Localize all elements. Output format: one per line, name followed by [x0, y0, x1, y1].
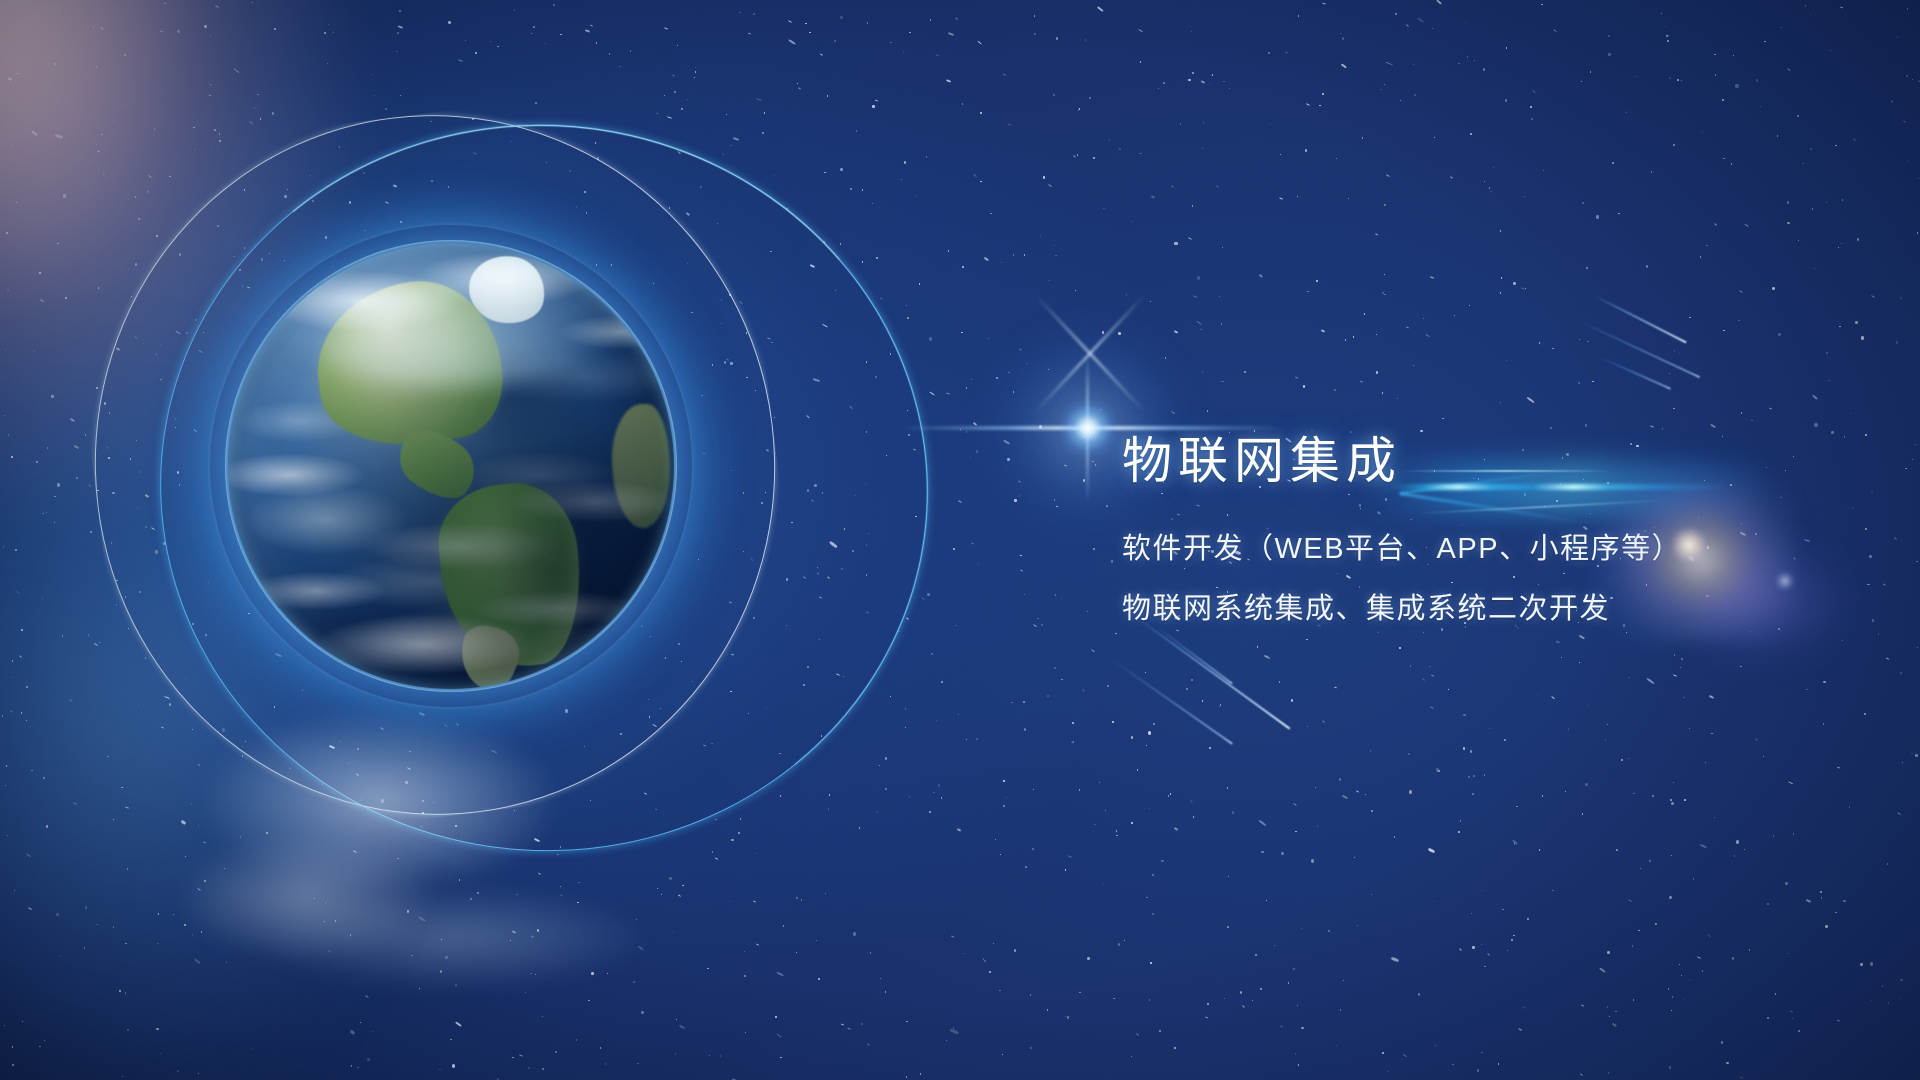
star [99, 642, 100, 644]
star [1228, 876, 1229, 878]
star [154, 128, 155, 130]
star [1871, 492, 1872, 493]
star [73, 445, 78, 449]
star [531, 973, 532, 974]
star [903, 52, 904, 54]
star [1787, 68, 1791, 71]
star [1340, 1009, 1341, 1011]
star [251, 1048, 252, 1050]
star [1484, 774, 1485, 776]
star [1306, 639, 1307, 640]
star [1797, 115, 1799, 117]
star [1207, 1003, 1209, 1005]
star [1209, 84, 1210, 86]
star [600, 1047, 601, 1048]
star [1093, 431, 1095, 434]
star [1542, 795, 1543, 796]
star [1150, 301, 1151, 303]
star [1322, 2, 1326, 4]
star [1174, 242, 1177, 245]
star [1633, 999, 1634, 1001]
star [1092, 461, 1093, 462]
star [397, 858, 398, 859]
star [1077, 154, 1078, 156]
star [156, 354, 157, 356]
star [753, 13, 755, 15]
star [1305, 149, 1307, 152]
star [1019, 495, 1020, 497]
star [1855, 321, 1858, 324]
star [135, 263, 137, 266]
star [1674, 350, 1675, 352]
star [1131, 822, 1132, 824]
star [904, 161, 906, 164]
star [1342, 37, 1344, 40]
star [44, 1040, 45, 1042]
star [112, 492, 115, 495]
star [1281, 852, 1284, 855]
star [197, 888, 201, 892]
star [1408, 753, 1410, 755]
star [1423, 632, 1424, 633]
star [1539, 849, 1540, 850]
star [1384, 204, 1386, 207]
star [4, 1025, 5, 1026]
star [823, 240, 826, 242]
star [953, 1027, 954, 1029]
star [1788, 953, 1789, 954]
star [169, 703, 171, 706]
star [219, 133, 220, 135]
star [819, 639, 820, 640]
star [1791, 783, 1792, 785]
star [145, 657, 146, 659]
star [1541, 4, 1542, 6]
star [936, 55, 939, 57]
meteor-trail [1155, 625, 1233, 684]
star [1341, 64, 1347, 69]
star [1666, 35, 1669, 37]
star [1093, 157, 1095, 160]
star [984, 257, 989, 261]
star [1755, 739, 1758, 741]
star [93, 26, 94, 28]
star [1079, 108, 1080, 109]
star [397, 32, 398, 34]
star [1514, 843, 1515, 845]
star [1764, 41, 1765, 43]
star [1146, 897, 1147, 899]
star [739, 301, 743, 304]
star [1679, 964, 1680, 966]
star [90, 531, 92, 534]
star [584, 746, 585, 748]
star [470, 898, 472, 900]
star [1118, 943, 1120, 945]
star [953, 548, 955, 550]
star [638, 946, 643, 951]
star [609, 53, 610, 55]
star [1579, 634, 1585, 638]
star [69, 699, 73, 702]
star [1767, 903, 1768, 905]
star [1878, 633, 1879, 635]
star [766, 707, 767, 708]
star [1165, 357, 1166, 358]
star [54, 496, 55, 497]
star [775, 1016, 776, 1018]
star [108, 457, 109, 459]
star [139, 591, 141, 593]
star [204, 880, 205, 881]
star [1886, 658, 1889, 660]
star [160, 1053, 161, 1054]
star [111, 542, 112, 544]
star [995, 839, 996, 841]
star [886, 455, 887, 456]
star [1871, 295, 1875, 298]
star [1124, 940, 1125, 942]
star [1477, 1069, 1479, 1072]
star [852, 550, 853, 552]
star [648, 699, 649, 700]
star [1900, 979, 1902, 982]
star [1116, 835, 1117, 836]
star [1781, 27, 1782, 28]
star [761, 502, 762, 504]
star [136, 440, 137, 441]
star [1055, 594, 1056, 596]
star [1460, 820, 1461, 822]
star [1625, 112, 1628, 114]
star [103, 173, 105, 176]
star [1242, 1005, 1245, 1008]
star [880, 978, 881, 980]
star [1711, 733, 1712, 734]
star [96, 66, 97, 68]
star [1406, 24, 1409, 27]
star [1472, 946, 1475, 949]
star [726, 359, 729, 361]
star [328, 745, 334, 749]
star [1798, 240, 1799, 241]
star [731, 470, 732, 471]
star [1232, 811, 1234, 813]
star [1714, 223, 1717, 226]
star [266, 832, 268, 834]
star [1430, 706, 1434, 708]
star [1681, 658, 1683, 660]
star [669, 877, 672, 880]
star [1269, 123, 1270, 124]
star [1152, 913, 1154, 915]
star [776, 971, 784, 977]
star [350, 1029, 356, 1035]
star [1298, 15, 1299, 17]
star [674, 91, 676, 93]
star [553, 4, 555, 6]
star [542, 1068, 544, 1070]
star [1515, 626, 1518, 629]
star [1422, 678, 1425, 681]
star [136, 507, 138, 509]
star [1914, 210, 1915, 211]
star [12, 677, 13, 678]
star [679, 1025, 685, 1030]
star [1126, 294, 1127, 296]
star [1311, 859, 1314, 863]
star [441, 939, 442, 940]
star [1669, 896, 1672, 900]
star [644, 793, 647, 795]
star [586, 212, 587, 213]
star [1436, 768, 1439, 772]
star [1587, 341, 1588, 342]
star [1897, 812, 1901, 815]
star [797, 83, 798, 84]
star [919, 283, 920, 285]
star [933, 792, 934, 794]
star [1187, 237, 1191, 240]
star [984, 960, 985, 962]
star [1384, 274, 1385, 275]
star [724, 361, 726, 363]
star [731, 653, 734, 655]
star [971, 543, 974, 545]
star [712, 364, 713, 366]
star [511, 141, 512, 142]
star [1450, 177, 1453, 180]
star [1916, 561, 1917, 562]
star [1075, 290, 1076, 291]
star [1677, 79, 1679, 81]
star [814, 484, 817, 487]
star [1917, 647, 1918, 648]
star [1423, 318, 1424, 320]
star [1585, 783, 1588, 786]
star [1381, 89, 1382, 90]
star [409, 751, 410, 753]
star [872, 105, 874, 108]
star [1145, 672, 1146, 673]
star [1319, 105, 1320, 106]
star [1116, 830, 1117, 831]
star [1037, 618, 1038, 619]
star [361, 799, 362, 801]
star [363, 172, 364, 174]
star [850, 406, 854, 410]
star [1579, 339, 1580, 341]
star [853, 932, 856, 936]
star [47, 447, 48, 449]
star [133, 336, 137, 339]
star [916, 195, 917, 197]
star [1887, 863, 1888, 865]
star [1193, 816, 1194, 818]
star [1382, 392, 1383, 394]
star [372, 1031, 373, 1033]
star [1669, 77, 1671, 80]
star [160, 379, 161, 380]
star [1018, 480, 1021, 482]
star [1085, 39, 1086, 40]
star [1321, 329, 1326, 332]
star [788, 20, 792, 23]
star [1395, 13, 1396, 14]
star [1043, 176, 1045, 179]
star [445, 956, 448, 959]
star [1188, 79, 1191, 82]
star [1006, 797, 1007, 798]
star [641, 1011, 644, 1014]
star [1749, 949, 1750, 951]
star [198, 825, 199, 826]
star [1003, 74, 1006, 76]
star [744, 951, 745, 952]
star [1371, 894, 1372, 895]
star [588, 1000, 589, 1001]
star [1744, 849, 1745, 851]
star [1579, 662, 1580, 663]
star [1500, 230, 1501, 232]
star [389, 117, 390, 119]
star [743, 492, 744, 494]
star [1561, 657, 1562, 658]
star [818, 978, 819, 979]
star [1655, 924, 1656, 926]
star [1608, 53, 1610, 56]
star [1527, 918, 1528, 920]
star [449, 1039, 452, 1041]
star [1316, 280, 1317, 282]
star [1240, 991, 1242, 994]
star [245, 741, 246, 742]
star [1229, 88, 1230, 89]
star [589, 25, 592, 27]
star [1024, 594, 1025, 596]
star [433, 802, 434, 803]
star [1002, 1054, 1003, 1055]
star [637, 1063, 638, 1065]
star [817, 572, 819, 575]
star [712, 851, 713, 853]
star [1700, 844, 1707, 848]
star [1842, 199, 1843, 200]
star [1387, 1071, 1389, 1073]
star [1700, 256, 1701, 258]
star [385, 201, 389, 203]
star [554, 240, 555, 242]
star [1740, 666, 1743, 668]
star [996, 377, 998, 379]
star [1860, 963, 1863, 967]
star [1582, 813, 1583, 815]
globe-sphere [228, 243, 674, 689]
star [841, 568, 843, 571]
star [596, 42, 597, 44]
star [1053, 94, 1055, 97]
star [510, 940, 511, 941]
star [284, 195, 287, 198]
star [866, 544, 867, 546]
star [1551, 696, 1555, 699]
star [419, 712, 425, 716]
star [1760, 106, 1761, 108]
star [1734, 855, 1735, 857]
star [1079, 789, 1080, 791]
star [177, 30, 180, 33]
star [1669, 1066, 1671, 1069]
star [1896, 341, 1898, 344]
star [1131, 736, 1133, 739]
star [970, 457, 971, 459]
star [963, 953, 964, 955]
star [750, 558, 754, 561]
star [407, 910, 409, 913]
star [21, 712, 22, 714]
star [745, 1032, 746, 1033]
star [1812, 208, 1813, 210]
star [1186, 688, 1187, 690]
star [16, 591, 20, 594]
star [885, 991, 886, 993]
star [98, 287, 99, 289]
star [717, 223, 718, 224]
star [988, 338, 989, 340]
star [203, 332, 204, 333]
star [727, 654, 728, 655]
star [840, 243, 841, 244]
star [1048, 369, 1049, 370]
star [1174, 330, 1179, 334]
star [946, 79, 952, 83]
star [821, 735, 822, 737]
star [325, 236, 327, 239]
star [1268, 52, 1270, 55]
star [1375, 233, 1378, 236]
star [234, 68, 240, 73]
banner-text-block: 物联网集成 软件开发（WEB平台、APP、小程序等） 物联网系统集成、集成系统二… [1122, 436, 1842, 624]
star [310, 175, 311, 177]
star [1295, 1053, 1296, 1054]
star [810, 264, 815, 267]
star [1176, 630, 1179, 632]
star [113, 926, 114, 928]
star [1257, 646, 1258, 648]
star [1322, 720, 1325, 723]
star [1322, 93, 1324, 96]
star [885, 788, 887, 790]
star [439, 1069, 440, 1070]
star [1500, 402, 1501, 404]
star [1671, 802, 1674, 805]
star [805, 23, 806, 25]
star [786, 578, 788, 581]
star [1295, 376, 1298, 378]
star [748, 33, 751, 35]
star [1586, 267, 1587, 269]
star [1805, 5, 1806, 7]
star [1149, 808, 1150, 809]
star [872, 203, 873, 204]
star [1843, 900, 1845, 902]
star [12, 1064, 13, 1065]
star [1511, 939, 1513, 941]
star [1507, 950, 1508, 951]
star [135, 196, 136, 198]
star [1775, 993, 1776, 995]
star [327, 63, 328, 64]
